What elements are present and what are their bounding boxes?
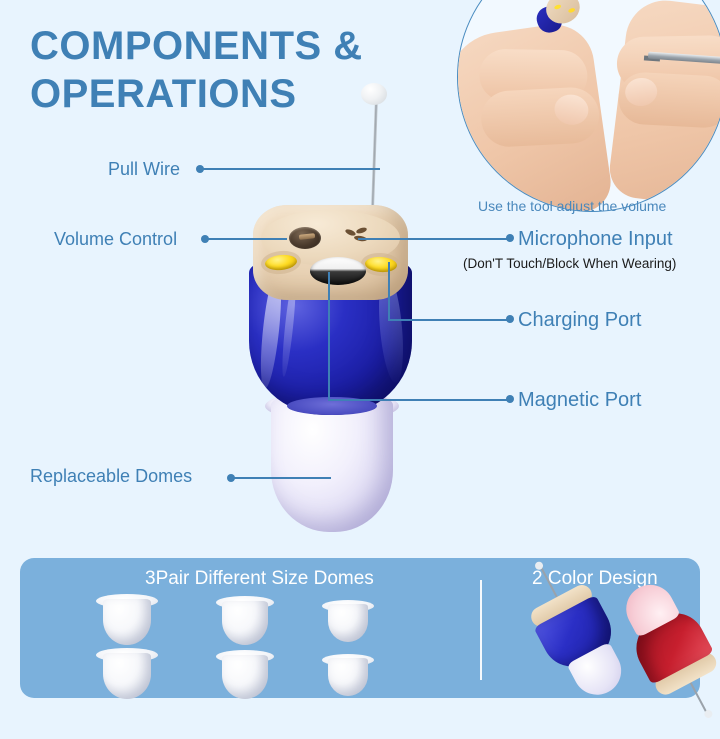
volume-dial-slot	[299, 233, 315, 240]
title-line-1: COMPONENTS &	[30, 24, 363, 68]
color-variant-red-bulb	[703, 709, 714, 720]
microphone-input-port	[345, 227, 375, 243]
leader-line-magnetic-port	[328, 399, 510, 401]
title-line-2: OPERATIONS	[30, 70, 450, 118]
charging-port-contact	[365, 256, 398, 273]
leader-line-charging-port	[388, 319, 510, 321]
leader-dot-volume-control	[201, 235, 209, 243]
leader-line-pull-wire	[200, 168, 380, 170]
contact-pad-left	[264, 253, 297, 271]
device-faceplate	[253, 205, 408, 300]
leader-dot-magnetic-port	[506, 395, 514, 403]
leader-dot-replaceable-domes	[227, 474, 235, 482]
infographic-canvas: COMPONENTS & OPERATIONS	[0, 0, 720, 720]
panel-divider	[480, 580, 482, 680]
leader-line-replaceable-domes	[231, 477, 331, 479]
right-hand	[606, 0, 720, 212]
callout-replaceable-domes: Replaceable Domes	[30, 466, 192, 487]
callout-microphone-note: (Don'T Touch/Block When Wearing)	[463, 256, 676, 271]
magnetic-port	[310, 257, 366, 285]
callout-volume-control: Volume Control	[54, 229, 177, 250]
panel-title-domes: 3Pair Different Size Domes	[145, 568, 374, 590]
leader-dot-charging-port	[506, 315, 514, 323]
inset-photo	[458, 0, 720, 211]
hearing-aid-device	[225, 205, 435, 550]
callout-microphone-input: Microphone Input	[518, 228, 673, 251]
left-hand	[457, 19, 614, 212]
leader-line-volume-control	[205, 238, 287, 240]
page-title: COMPONENTS & OPERATIONS	[30, 22, 450, 118]
microphone-slot-2	[355, 226, 367, 234]
callout-magnetic-port: Magnetic Port	[518, 389, 641, 412]
volume-control-dial[interactable]	[289, 227, 321, 249]
callout-pull-wire: Pull Wire	[108, 159, 180, 180]
leader-dot-pull-wire	[196, 165, 204, 173]
pull-wire-bulb	[361, 83, 387, 105]
replaceable-dome	[271, 397, 393, 532]
leader-line-charging-port-vertical	[388, 262, 390, 320]
leader-line-microphone-input	[358, 238, 510, 240]
callout-charging-port: Charging Port	[518, 309, 641, 332]
tool-usage-photo-inset	[457, 0, 720, 212]
leader-dot-microphone-input	[506, 234, 514, 242]
inset-caption: Use the tool adjust the volume	[478, 198, 666, 214]
leader-line-magnetic-port-vertical	[328, 272, 330, 400]
